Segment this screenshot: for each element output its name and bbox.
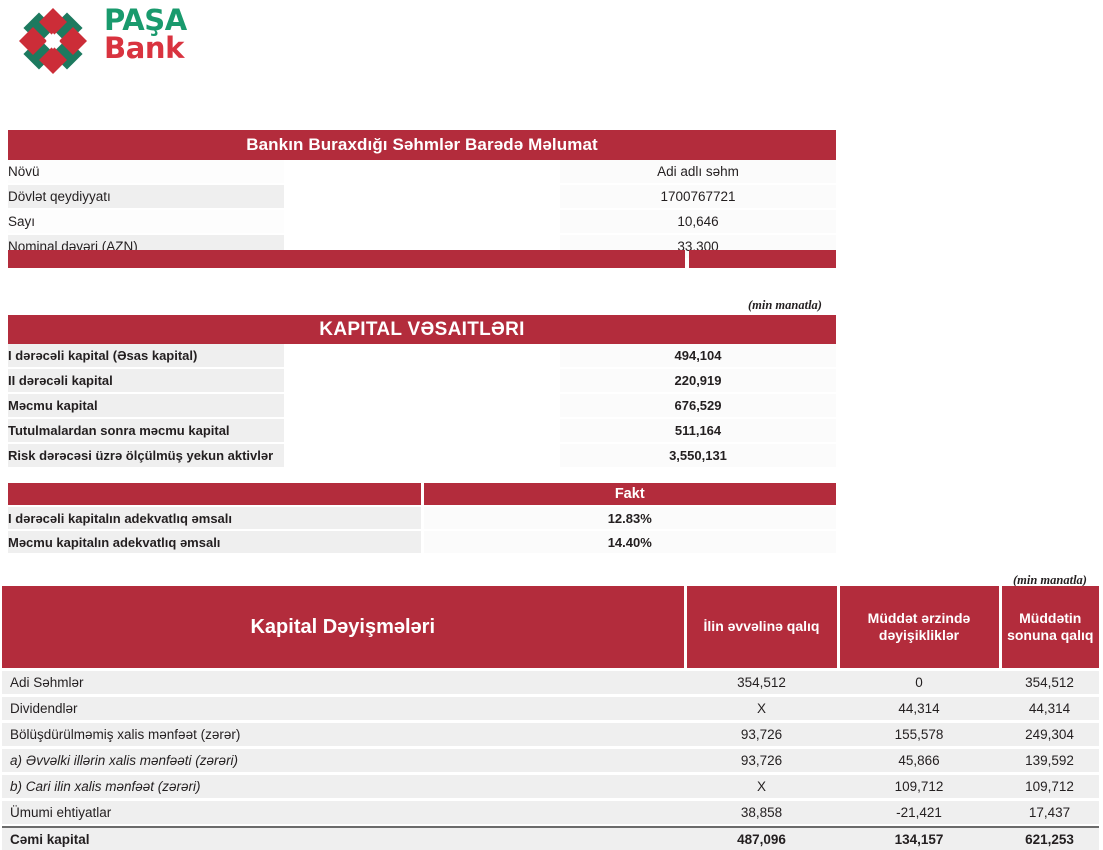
header-empty-cell bbox=[8, 483, 421, 505]
row-value: 676,529 bbox=[560, 394, 836, 417]
column-gap bbox=[284, 444, 560, 467]
column-gap bbox=[284, 210, 560, 233]
capital-adequacy-table: Fakt I dərəcəli kapitalın adekvatlıq əms… bbox=[8, 483, 836, 553]
currency-note-capital: (min manatla) bbox=[748, 298, 822, 313]
column-gap bbox=[284, 160, 560, 183]
footer-band-left bbox=[8, 250, 685, 268]
row-label: Cəmi kapital bbox=[2, 827, 685, 850]
table-total-row: Cəmi kapital 487,096 134,157 621,253 bbox=[2, 827, 1099, 850]
capital-table-title: KAPITAL VƏSAITLƏRI bbox=[8, 315, 836, 344]
row-value-change: 0 bbox=[838, 671, 1000, 694]
row-value: 511,164 bbox=[560, 419, 836, 442]
row-label: Ümumi ehtiyatlar bbox=[2, 801, 685, 824]
row-label: Sayı bbox=[8, 210, 284, 233]
row-value-closing: 44,314 bbox=[1000, 697, 1099, 720]
table-title-row: Bankın Buraxdığı Səhmlər Barədə Məlumat bbox=[8, 130, 836, 160]
row-value-change: 134,157 bbox=[838, 827, 1000, 850]
row-label: Adi Səhmlər bbox=[2, 671, 685, 694]
table-row: a) Əvvəlki illərin xalis mənfəəti (zərər… bbox=[2, 749, 1099, 772]
brand-word-bank: Bank bbox=[104, 35, 187, 63]
column-gap bbox=[284, 344, 560, 367]
column-gap bbox=[284, 419, 560, 442]
shares-info-table: Bankın Buraxdığı Səhmlər Barədə Məlumat … bbox=[8, 130, 836, 258]
table-row: Növü Adi adlı səhm bbox=[8, 160, 836, 183]
shares-table-footer-band bbox=[8, 250, 836, 268]
row-label: Dividendlər bbox=[2, 697, 685, 720]
row-label: b) Cari ilin xalis mənfəət (zərəri) bbox=[2, 775, 685, 798]
row-value-opening: 93,726 bbox=[685, 723, 838, 746]
row-label: Dövlət qeydiyyatı bbox=[8, 185, 284, 208]
pasha-bank-pinwheel-logo-icon bbox=[14, 7, 92, 75]
row-value: Adi adlı səhm bbox=[560, 160, 836, 183]
row-label: I dərəcəli kapital (Əsas kapital) bbox=[8, 344, 284, 367]
row-value: 220,919 bbox=[560, 369, 836, 392]
column-header-closing-balance: Müddətin sonuna qalıq bbox=[1000, 586, 1099, 668]
table-row: b) Cari ilin xalis mənfəət (zərəri) X 10… bbox=[2, 775, 1099, 798]
row-label: Bölüşdürülməmiş xalis mənfəət (zərər) bbox=[2, 723, 685, 746]
table-row: Tutulmalardan sonra məcmu kapital 511,16… bbox=[8, 419, 836, 442]
table-row: Adi Səhmlər 354,512 0 354,512 bbox=[2, 671, 1099, 694]
row-label: Tutulmalardan sonra məcmu kapital bbox=[8, 419, 284, 442]
row-label: Növü bbox=[8, 160, 284, 183]
table-row: Məcmu kapital 676,529 bbox=[8, 394, 836, 417]
row-label: a) Əvvəlki illərin xalis mənfəəti (zərər… bbox=[2, 749, 685, 772]
table-row: Bölüşdürülməmiş xalis mənfəət (zərər) 93… bbox=[2, 723, 1099, 746]
row-value-opening: 38,858 bbox=[685, 801, 838, 824]
row-value: 12.83% bbox=[424, 507, 837, 529]
table-row: Risk dərəcəsi üzrə ölçülmüş yekun aktivl… bbox=[8, 444, 836, 467]
table-row: Məcmu kapitalın adekvatlıq əmsalı 14.40% bbox=[8, 531, 836, 553]
table-row: I dərəcəli kapital (Əsas kapital) 494,10… bbox=[8, 344, 836, 367]
row-value-change: 45,866 bbox=[838, 749, 1000, 772]
table-row: Dövlət qeydiyyatı 1700767721 bbox=[8, 185, 836, 208]
table-row: Dividendlər X 44,314 44,314 bbox=[2, 697, 1099, 720]
shares-table-title: Bankın Buraxdığı Səhmlər Barədə Məlumat bbox=[8, 130, 836, 160]
column-gap bbox=[284, 369, 560, 392]
table-header-row: Fakt bbox=[8, 483, 836, 505]
column-header-opening-balance: İlin əvvəlinə qalıq bbox=[685, 586, 838, 668]
row-label: II dərəcəli kapital bbox=[8, 369, 284, 392]
row-value-opening: 93,726 bbox=[685, 749, 838, 772]
row-value-opening: 354,512 bbox=[685, 671, 838, 694]
row-value-opening: X bbox=[685, 775, 838, 798]
row-value-closing: 354,512 bbox=[1000, 671, 1099, 694]
row-value-closing: 621,253 bbox=[1000, 827, 1099, 850]
row-label: I dərəcəli kapitalın adekvatlıq əmsalı bbox=[8, 507, 421, 529]
row-value-change: 155,578 bbox=[838, 723, 1000, 746]
brand-wordmark: PAŞA Bank bbox=[104, 7, 187, 63]
row-value-closing: 17,437 bbox=[1000, 801, 1099, 824]
header-fakt: Fakt bbox=[424, 483, 837, 505]
table-row: Sayı 10,646 bbox=[8, 210, 836, 233]
row-value-closing: 249,304 bbox=[1000, 723, 1099, 746]
column-header-period-changes: Müddət ərzində dəyişikliklər bbox=[838, 586, 1000, 668]
row-value-opening: 487,096 bbox=[685, 827, 838, 850]
table-header-row: Kapital Dəyişmələri İlin əvvəlinə qalıq … bbox=[2, 586, 1099, 668]
row-value: 494,104 bbox=[560, 344, 836, 367]
row-label: Risk dərəcəsi üzrə ölçülmüş yekun aktivl… bbox=[8, 444, 284, 467]
row-value-change: -21,421 bbox=[838, 801, 1000, 824]
footer-band-right bbox=[689, 250, 836, 268]
capital-changes-table: Kapital Dəyişmələri İlin əvvəlinə qalıq … bbox=[2, 586, 1099, 850]
row-value-closing: 139,592 bbox=[1000, 749, 1099, 772]
table-row: I dərəcəli kapitalın adekvatlıq əmsalı 1… bbox=[8, 507, 836, 529]
row-value: 1700767721 bbox=[560, 185, 836, 208]
table-title-row: KAPITAL VƏSAITLƏRI bbox=[8, 315, 836, 344]
row-value: 3,550,131 bbox=[560, 444, 836, 467]
table-row: Ümumi ehtiyatlar 38,858 -21,421 17,437 bbox=[2, 801, 1099, 824]
column-gap bbox=[284, 394, 560, 417]
table-row: II dərəcəli kapital 220,919 bbox=[8, 369, 836, 392]
row-value-opening: X bbox=[685, 697, 838, 720]
column-gap bbox=[284, 185, 560, 208]
changes-table-title: Kapital Dəyişmələri bbox=[2, 586, 685, 668]
row-value-change: 44,314 bbox=[838, 697, 1000, 720]
row-label: Məcmu kapital bbox=[8, 394, 284, 417]
row-value-change: 109,712 bbox=[838, 775, 1000, 798]
row-value-closing: 109,712 bbox=[1000, 775, 1099, 798]
row-value: 10,646 bbox=[560, 210, 836, 233]
row-label: Məcmu kapitalın adekvatlıq əmsalı bbox=[8, 531, 421, 553]
row-value: 14.40% bbox=[424, 531, 837, 553]
capital-funds-table: KAPITAL VƏSAITLƏRI I dərəcəli kapital (Ə… bbox=[8, 315, 836, 467]
brand-logo: PAŞA Bank bbox=[12, 4, 332, 82]
